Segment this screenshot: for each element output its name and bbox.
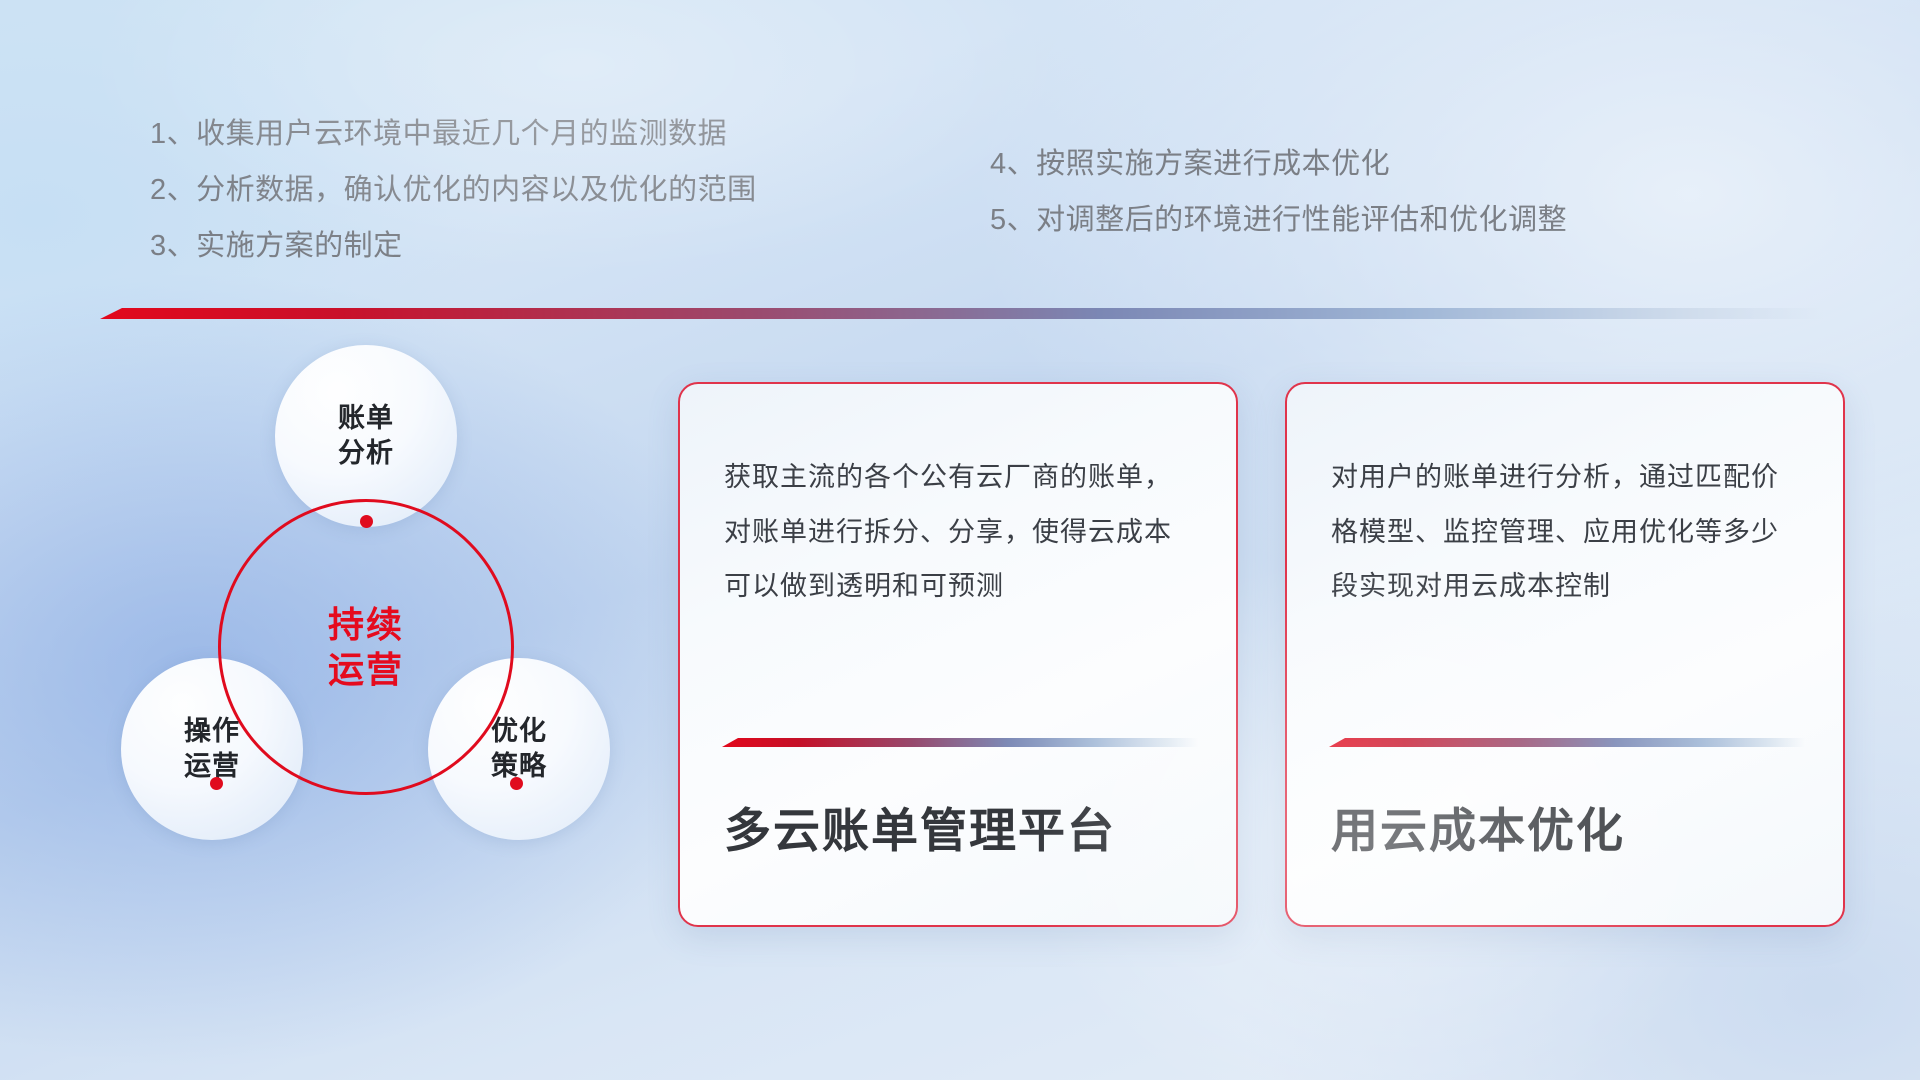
section-divider-rule — [100, 308, 1823, 319]
card-body-text: 获取主流的各个公有云厂商的账单，对账单进行拆分、分享，使得云成本可以做到透明和可… — [724, 450, 1192, 614]
steps-left-column: 1、收集用户云环境中最近几个月的监测数据 2、分析数据，确认优化的内容以及优化的… — [150, 120, 757, 288]
card-divider-rule — [722, 738, 1198, 747]
card-divider-rule — [1329, 738, 1805, 747]
card-body-text: 对用户的账单进行分析，通过匹配价格模型、监控管理、应用优化等多少段实现对用云成本… — [1331, 450, 1799, 614]
feature-card-cloud-cost-optimization[interactable]: 对用户的账单进行分析，通过匹配价格模型、监控管理、应用优化等多少段实现对用云成本… — [1285, 382, 1845, 927]
diagram-node-label: 账单分析 — [338, 401, 394, 470]
feature-card-multicloud-billing[interactable]: 获取主流的各个公有云厂商的账单，对账单进行拆分、分享，使得云成本可以做到透明和可… — [678, 382, 1238, 927]
step-item-3: 3、实施方案的制定 — [150, 232, 757, 261]
slide-canvas: 1、收集用户云环境中最近几个月的监测数据 2、分析数据，确认优化的内容以及优化的… — [0, 0, 1920, 1080]
card-title: 多云账单管理平台 — [724, 792, 1116, 861]
diagram-connector-dot-right — [510, 777, 523, 790]
step-item-1: 1、收集用户云环境中最近几个月的监测数据 — [150, 120, 757, 149]
continuous-operation-diagram: 账单分析 操作运营 优化策略 持续运营 — [95, 345, 635, 945]
diagram-connector-dot-left — [210, 777, 223, 790]
step-item-2: 2、分析数据，确认优化的内容以及优化的范围 — [150, 176, 757, 205]
step-item-4: 4、按照实施方案进行成本优化 — [990, 150, 1567, 179]
card-title: 用云成本优化 — [1331, 792, 1625, 861]
diagram-center-label: 持续运营 — [218, 499, 514, 795]
diagram-connector-dot-top — [360, 515, 373, 528]
step-item-5: 5、对调整后的环境进行性能评估和优化调整 — [990, 206, 1567, 235]
steps-right-column: 4、按照实施方案进行成本优化 5、对调整后的环境进行性能评估和优化调整 — [990, 150, 1567, 262]
